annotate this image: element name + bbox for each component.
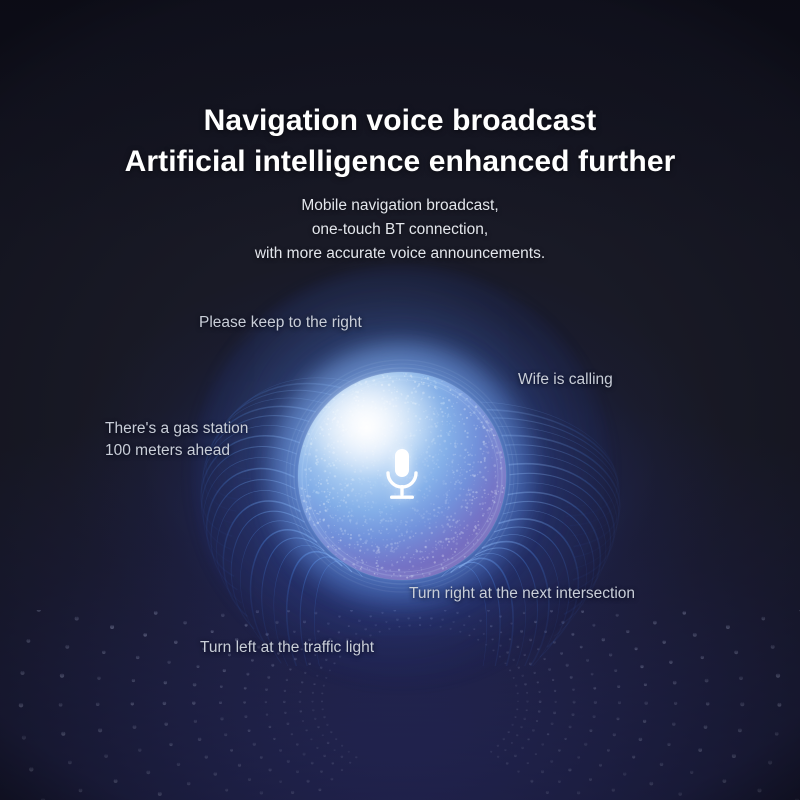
subtitle-line-2: one-touch BT connection, (0, 218, 800, 242)
caption-gas-station: There's a gas station 100 meters ahead (105, 418, 248, 463)
caption-turn-right: Turn right at the next intersection (409, 583, 635, 605)
caption-keep-right: Please keep to the right (199, 312, 362, 334)
page-title: Navigation voice broadcast Artificial in… (0, 100, 800, 183)
subtitle-line-3: with more accurate voice announcements. (0, 242, 800, 266)
headline-line-1: Navigation voice broadcast (0, 100, 800, 141)
subtitle-line-1: Mobile navigation broadcast, (0, 194, 800, 218)
headline-line-2: Artificial intelligence enhanced further (0, 141, 800, 182)
caption-turn-left: Turn left at the traffic light (200, 637, 374, 659)
microphone-icon[interactable] (379, 447, 425, 505)
page-subtitle: Mobile navigation broadcast, one-touch B… (0, 194, 800, 266)
caption-wife-calling: Wife is calling (518, 369, 613, 391)
promo-banner: Navigation voice broadcast Artificial in… (0, 0, 800, 800)
